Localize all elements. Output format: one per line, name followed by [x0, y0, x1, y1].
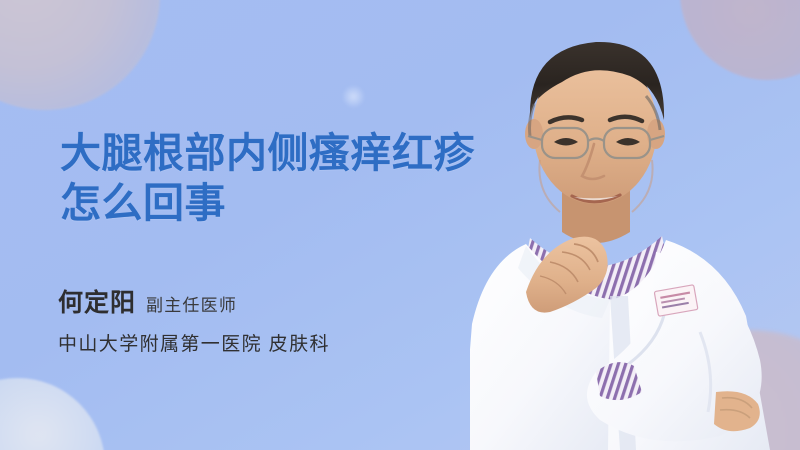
doctor-rank: 副主任医师	[146, 291, 237, 316]
video-cover-card: 大腿根部内侧瘙痒红疹 怎么回事 何定阳 副主任医师 中山大学附属第一医院 皮肤科	[0, 0, 800, 450]
doctor-credentials: 何定阳 副主任医师 中山大学附属第一医院 皮肤科	[58, 283, 518, 356]
decorative-blob-top-left	[0, 0, 160, 110]
doctor-affiliation: 中山大学附属第一医院 皮肤科	[58, 329, 518, 356]
doctor-name: 何定阳	[58, 283, 136, 319]
decorative-blob-bottom-left	[0, 378, 105, 450]
doctor-portrait	[470, 0, 800, 450]
decorative-dot	[343, 86, 364, 107]
doctor-name-row: 何定阳 副主任医师	[58, 283, 518, 319]
